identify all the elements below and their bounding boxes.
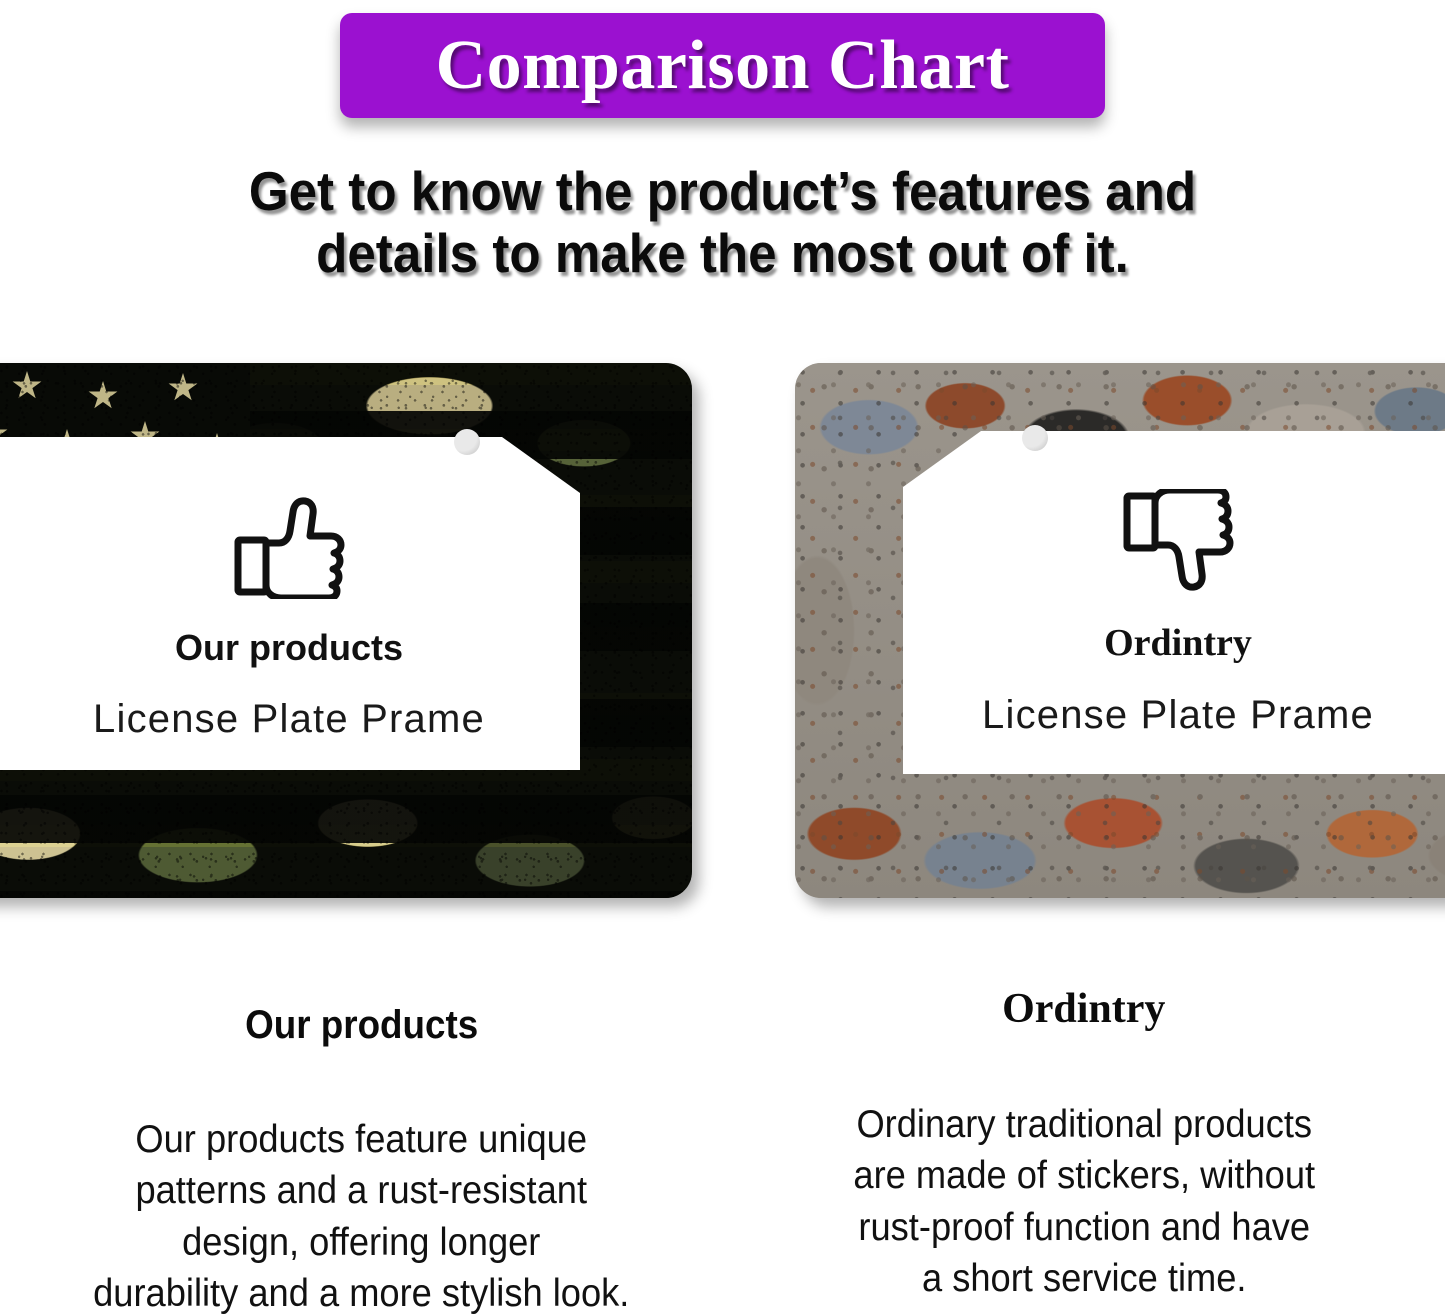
description-columns: Our products Our products feature unique… [0, 985, 1445, 1314]
card-subheading-right: License Plate Prame [982, 693, 1374, 738]
product-card-ordintry: Ordintry License Plate Prame [795, 363, 1445, 898]
thumbs-down-icon [1122, 489, 1234, 593]
column-body-right-line-3: rust-proof function and have [781, 1202, 1386, 1253]
card-heading-left: Our products [175, 627, 403, 669]
column-body-left-line-1: Our products feature unique [59, 1114, 664, 1165]
column-heading-right: Ordintry [1002, 986, 1165, 1032]
subtitle-line-1: Get to know the product’s features and [51, 160, 1395, 222]
column-body-right-line-1: Ordinary traditional products [781, 1099, 1386, 1150]
license-plate-window-left: Our products License Plate Prame [0, 437, 580, 770]
description-column-our-products: Our products Our products feature unique… [0, 985, 723, 1314]
column-body-left-line-3: design, offering longer [59, 1217, 664, 1268]
card-subheading-left: License Plate Prame [93, 697, 485, 742]
subtitle: Get to know the product’s features and d… [51, 160, 1395, 284]
title-banner: Comparison Chart [340, 13, 1105, 118]
column-body-right: Ordinary traditional products are made o… [781, 1099, 1386, 1305]
column-heading-left: Our products [245, 1003, 478, 1048]
subtitle-line-2: details to make the most out of it. [51, 222, 1395, 284]
column-body-left: Our products feature unique patterns and… [59, 1114, 664, 1314]
column-body-right-line-4: a short service time. [781, 1253, 1386, 1304]
license-plate-window-right: Ordintry License Plate Prame [903, 431, 1445, 774]
product-frames-row: Our products License Plate Prame Ordintr… [0, 355, 1445, 910]
card-heading-right: Ordintry [1104, 621, 1252, 665]
column-body-left-line-4: durability and a more stylish look. [59, 1268, 664, 1314]
page-title: Comparison Chart [436, 26, 1010, 106]
mounting-hole-right [1022, 425, 1048, 451]
description-column-ordintry: Ordintry Ordinary traditional products a… [723, 985, 1445, 1314]
thumbs-up-icon [233, 495, 345, 599]
product-card-our-products: Our products License Plate Prame [0, 363, 692, 898]
title-banner-background: Comparison Chart [340, 13, 1105, 118]
column-body-right-line-2: are made of stickers, without [781, 1150, 1386, 1201]
mounting-hole-left [454, 429, 480, 455]
column-body-left-line-2: patterns and a rust-resistant [59, 1165, 664, 1216]
